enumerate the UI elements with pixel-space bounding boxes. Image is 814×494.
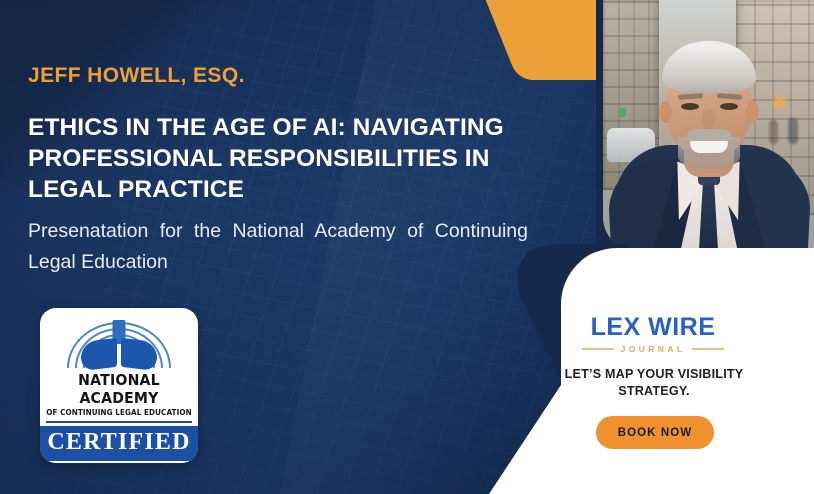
speaker-eye-right <box>720 103 738 110</box>
presentation-subtitle: Presenatation for the National Academy o… <box>28 216 528 278</box>
journal-label: JOURNAL <box>621 344 686 354</box>
pedestrian-secondary <box>769 120 778 144</box>
badge-org-line-1: NATIONAL ACADEMY <box>45 371 194 407</box>
badge-divider <box>46 421 192 423</box>
lex-wire-wordmark: LEX WIRE <box>582 314 724 341</box>
speaker-smile <box>690 140 728 153</box>
lex-wire-journal-logo: LEX WIRE JOURNAL <box>582 314 724 354</box>
badge-org-line-2: OF CONTINUING LEGAL EDUCATION <box>44 408 194 417</box>
speaker-moustache <box>687 129 731 141</box>
pedestrian <box>788 118 798 144</box>
logo-rule-left <box>582 348 614 350</box>
open-book-icon <box>81 339 157 369</box>
logo-rule-right <box>692 348 724 350</box>
badge-certified-label: CERTIFIED <box>40 426 198 461</box>
journal-subtitle-row: JOURNAL <box>582 344 724 354</box>
speaker-eye-left <box>681 103 699 110</box>
speaker-ear-left <box>659 101 672 123</box>
street-lamp-glow <box>773 96 786 109</box>
speaker-name: JEFF HOWELL, ESQ. <box>28 64 245 88</box>
book-now-button[interactable]: BOOK NOW <box>596 416 714 449</box>
certification-badge: NATIONAL ACADEMY OF CONTINUING LEGAL EDU… <box>40 308 198 463</box>
promo-tagline: LET’S MAP YOUR VISIBILITY STRATEGY. <box>556 366 752 400</box>
speaker-nose <box>702 109 716 131</box>
presentation-title: ETHICS IN THE AGE OF AI: NAVIGATING PROF… <box>28 112 573 205</box>
speaker-headshot-photo <box>603 0 814 251</box>
speaker-ear-right <box>746 101 759 123</box>
speaker-announcement-banner: JEFF HOWELL, ESQ. ETHICS IN THE AGE OF A… <box>0 0 814 494</box>
traffic-light <box>619 108 626 117</box>
badge-role-label: Faculty Member <box>40 461 198 463</box>
academy-logo <box>40 314 198 367</box>
